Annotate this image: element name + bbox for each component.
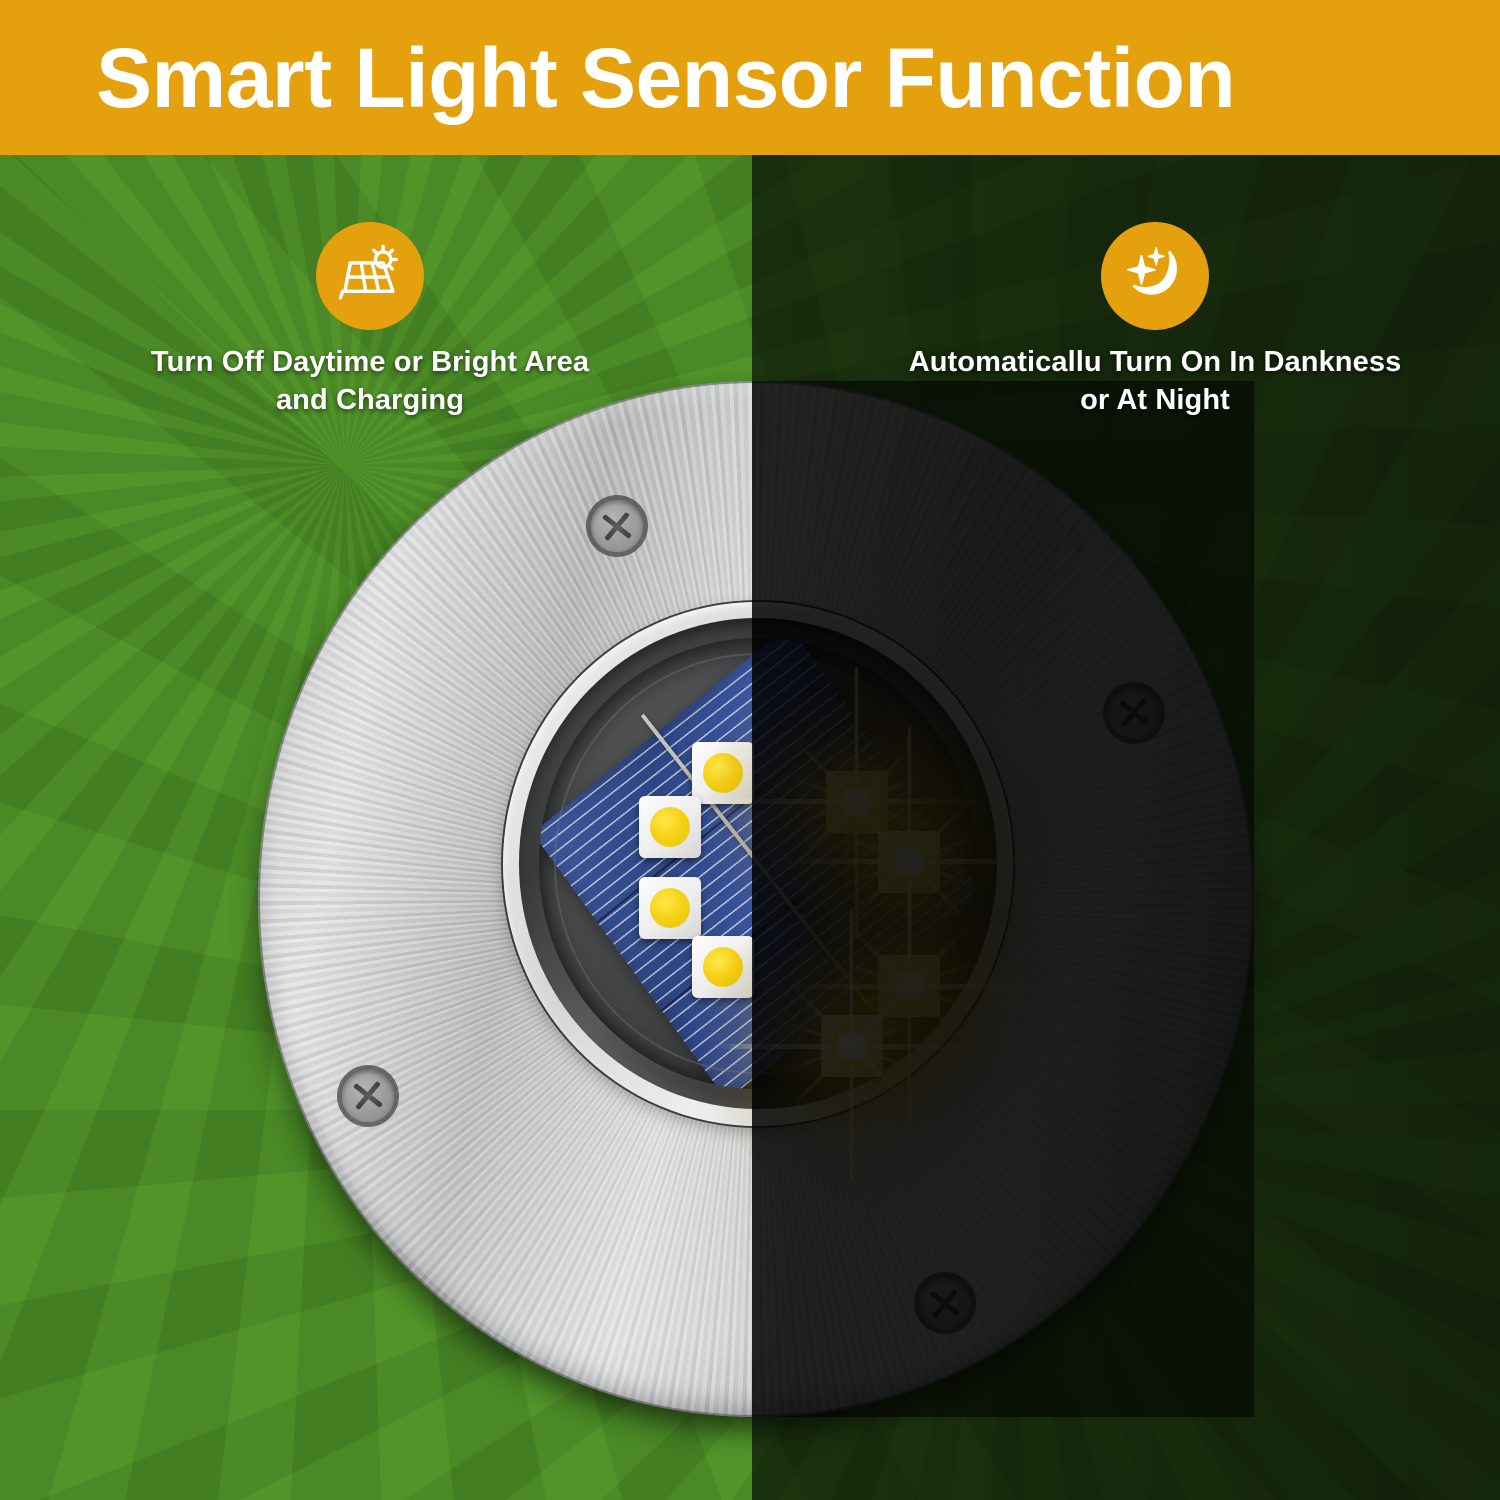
product-feature-image: Turn Off Daytime or Bright Area and Char…	[0, 0, 1500, 1500]
led-8	[821, 1015, 883, 1077]
screw-top	[591, 500, 643, 552]
feature-daytime: Turn Off Daytime or Bright Area and Char…	[60, 222, 680, 419]
feature-daytime-caption: Turn Off Daytime or Bright Area and Char…	[60, 344, 680, 419]
led-7	[878, 955, 940, 1017]
title-banner: Smart Light Sensor Function	[0, 0, 1500, 155]
solar-panel-sun-icon	[316, 222, 424, 330]
solar-ground-light	[258, 381, 1254, 1417]
led-4	[692, 936, 754, 998]
screw-left	[342, 1070, 394, 1122]
led-1	[692, 742, 754, 804]
led-6	[878, 831, 940, 893]
feature-night: Automaticallu Turn On In Dankness or At …	[845, 222, 1465, 419]
led-2	[639, 796, 701, 858]
screw-bottom	[919, 1277, 971, 1329]
crescent-moon-stars-icon	[1101, 222, 1209, 330]
led-3	[639, 877, 701, 939]
page-title: Smart Light Sensor Function	[96, 36, 1235, 120]
screw-right	[1108, 687, 1160, 739]
led-5	[826, 771, 888, 833]
feature-night-caption: Automaticallu Turn On In Dankness or At …	[845, 344, 1465, 419]
